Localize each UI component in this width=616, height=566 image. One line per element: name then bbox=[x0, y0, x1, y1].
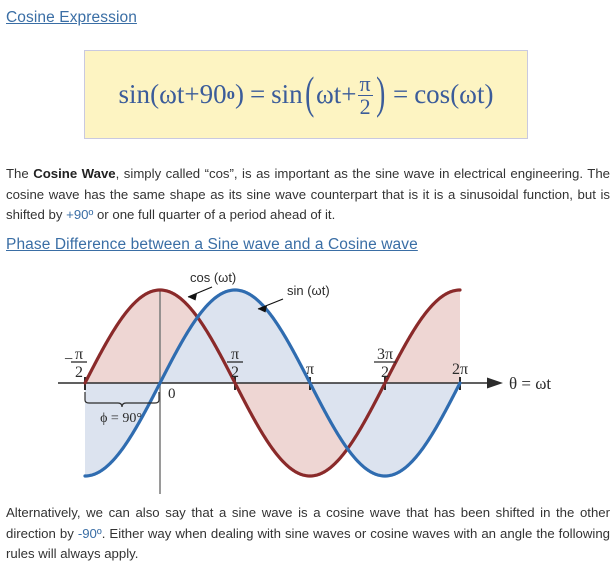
para1-text-part3: or one full quarter of a period ahead of… bbox=[93, 207, 335, 222]
para1-text-part1: The bbox=[6, 166, 33, 181]
cosine-identity-formula: sin(ωt+90o) = sin(ωt+π2) = cos(ωt) bbox=[119, 72, 494, 118]
formula-sin-1: sin bbox=[119, 81, 151, 108]
formula-open-paren-2: ( bbox=[305, 79, 314, 108]
x-axis-label: θ = ωt bbox=[509, 374, 551, 393]
paragraph-cosine-wave: The Cosine Wave, simply called “cos”, is… bbox=[6, 164, 610, 226]
axis-arrowhead-icon bbox=[487, 378, 503, 389]
sine-cosine-waveform-svg: ϕ = 90° − π 2 0 π 2 π 3π 2 bbox=[0, 262, 616, 498]
formula-equals-2: = bbox=[387, 81, 414, 108]
article-page: Cosine Expression sin(ωt+90o) = sin(ωt+π… bbox=[0, 0, 616, 566]
formula-cos: cos bbox=[414, 81, 450, 108]
tick-label-origin: 0 bbox=[168, 386, 176, 402]
para1-highlight-plus90: +90º bbox=[66, 207, 93, 222]
formula-cos-argument: (ωt) bbox=[450, 81, 493, 108]
annotation-cos-label: cos (ωt) bbox=[190, 270, 236, 285]
formula-box: sin(ωt+90o) = sin(ωt+π2) = cos(ωt) bbox=[84, 50, 528, 139]
minus-sign: − bbox=[64, 351, 73, 368]
phase-bracket-label: ϕ = 90° bbox=[100, 411, 142, 426]
paragraph-alternatively: Alternatively, we can also say that a si… bbox=[6, 503, 610, 565]
denominator-2: 2 bbox=[231, 364, 239, 381]
fraction-numerator: π bbox=[358, 73, 373, 95]
tick-label-two-pi: 2π bbox=[452, 361, 468, 378]
formula-sin-2: sin bbox=[271, 81, 303, 108]
formula-close-paren-1: ) bbox=[235, 81, 244, 108]
heading-cosine-expression[interactable]: Cosine Expression bbox=[6, 9, 137, 27]
denominator-2: 2 bbox=[75, 364, 83, 381]
formula-argument-1: ωt+90 bbox=[159, 81, 227, 108]
para1-bold-cosine-wave: Cosine Wave bbox=[33, 166, 115, 181]
numerator-3pi: 3π bbox=[377, 346, 393, 363]
numerator-pi: π bbox=[231, 346, 239, 363]
formula-fraction-pi-over-2: π2 bbox=[358, 73, 373, 119]
formula-open-paren-1: ( bbox=[150, 81, 159, 108]
formula-close-paren-2: ) bbox=[376, 79, 385, 108]
annotation-cos-leader bbox=[188, 287, 212, 297]
phase-difference-chart: ϕ = 90° − π 2 0 π 2 π 3π 2 bbox=[0, 262, 616, 498]
formula-equals-1: = bbox=[244, 81, 271, 108]
tick-label-pi: π bbox=[306, 361, 314, 378]
tick-label-minus-half-pi: − π 2 bbox=[64, 346, 87, 381]
annotation-sin-label: sin (ωt) bbox=[287, 283, 330, 298]
formula-degree-symbol: o bbox=[227, 86, 235, 103]
heading-phase-difference[interactable]: Phase Difference between a Sine wave and… bbox=[6, 236, 418, 254]
para2-highlight-minus90: -90º bbox=[78, 526, 102, 541]
numerator-pi: π bbox=[75, 346, 83, 363]
denominator-2: 2 bbox=[381, 364, 389, 381]
formula-argument-2: ωt+ bbox=[316, 81, 357, 108]
fraction-denominator: 2 bbox=[358, 95, 373, 118]
